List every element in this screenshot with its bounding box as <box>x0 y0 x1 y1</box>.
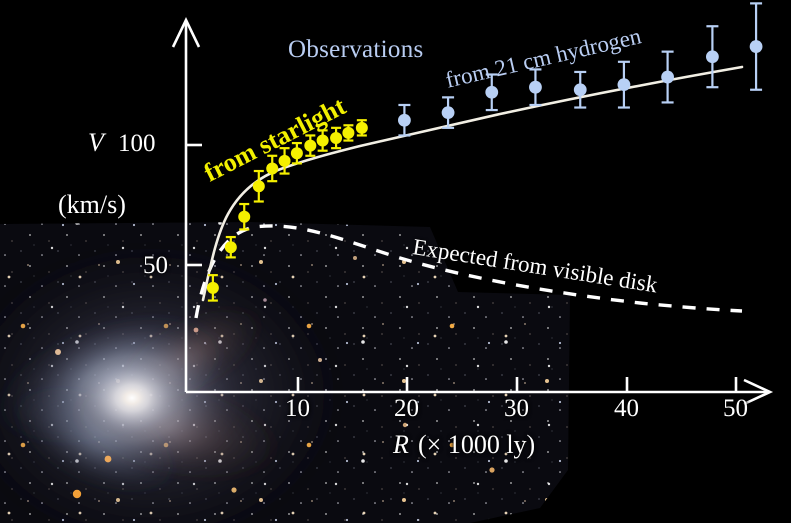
x-tick-40: 40 <box>614 395 639 423</box>
data-point <box>398 114 411 127</box>
data-point <box>317 135 329 147</box>
data-point <box>661 71 674 84</box>
x-tick-10: 10 <box>285 395 310 423</box>
x-tick-20: 20 <box>394 395 419 423</box>
data-point <box>291 147 303 159</box>
observations-label: Observations <box>288 36 424 64</box>
y-axis-unit: (km/s) <box>58 190 126 220</box>
rotation-curve-figure: Observations from 21 cm hydrogen from st… <box>0 0 791 523</box>
x-axis-symbol: R <box>393 430 409 460</box>
x-axis-symbol-text: R <box>393 430 409 459</box>
data-point <box>706 50 719 63</box>
x-axis-unit: (× 1000 ly) <box>418 430 535 460</box>
data-point <box>207 282 219 294</box>
data-point <box>618 78 631 91</box>
y-tick-100: 100 <box>118 130 156 158</box>
data-point <box>485 86 498 99</box>
y-tick-50: 50 <box>143 252 168 280</box>
data-point <box>750 40 763 53</box>
data-point <box>238 211 250 223</box>
data-point <box>225 241 237 253</box>
data-point <box>356 122 368 134</box>
data-point <box>442 106 455 119</box>
y-axis-symbol-text: V <box>88 128 104 157</box>
y-axis-symbol: V <box>88 128 104 158</box>
data-point <box>304 140 316 152</box>
data-point <box>330 132 342 144</box>
data-point <box>253 180 265 192</box>
data-point <box>342 127 354 139</box>
data-point <box>279 155 291 167</box>
data-point <box>529 81 542 94</box>
x-tick-30: 30 <box>504 395 529 423</box>
x-tick-50: 50 <box>723 395 748 423</box>
data-point <box>574 83 587 96</box>
data-point <box>266 162 278 174</box>
